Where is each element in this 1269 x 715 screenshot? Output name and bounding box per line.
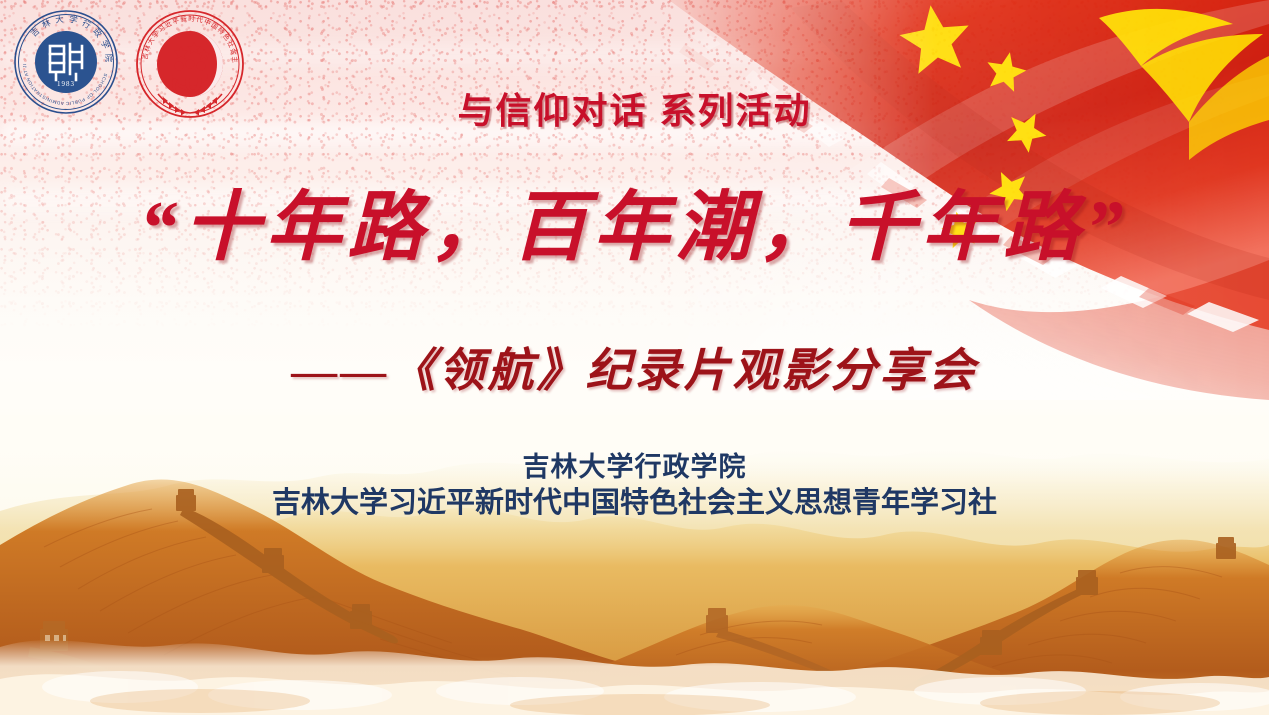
poster-subtitle: ——《领航》纪录片观影分享会 — [0, 334, 1269, 400]
series-kicker-title: 与信仰对话 系列活动 — [0, 82, 1269, 134]
poster-canvas: 1983 吉林大学行政学院 SCHOOL OF PUBLIC ADMINISTR… — [0, 0, 1269, 715]
poster-main-title: “十年路，百年潮，千年路” — [0, 186, 1269, 271]
organizer-line-2: 吉林大学习近平新时代中国特色社会主义思想青年学习社 — [0, 485, 1269, 522]
organizer-line-1: 吉林大学行政学院 — [0, 450, 1269, 485]
organizer-block: 吉林大学行政学院 吉林大学习近平新时代中国特色社会主义思想青年学习社 — [0, 450, 1269, 522]
